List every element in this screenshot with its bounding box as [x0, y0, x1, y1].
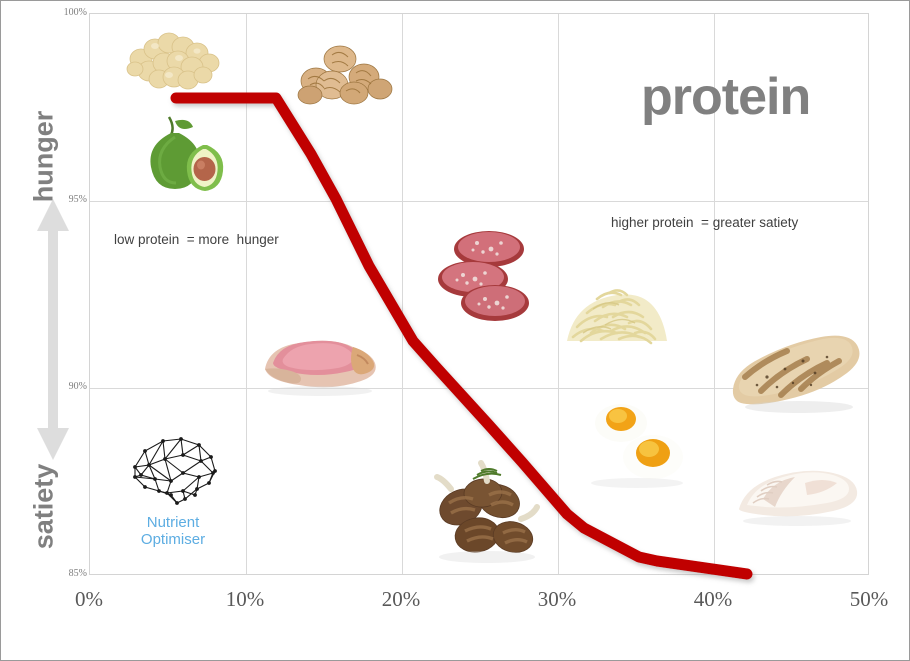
- chart-canvas: 100% 95% 90% 85% 0% 10% 20% 30% 40% 50% …: [0, 0, 910, 661]
- grilled-chicken-image: [723, 327, 867, 417]
- ham-steak-image: [257, 321, 383, 397]
- x-tick-label: 40%: [694, 587, 733, 612]
- boiled-eggs-image: [581, 397, 695, 489]
- low-protein-annotation: low protein = more hunger: [114, 232, 279, 247]
- gridline-vertical: [402, 14, 403, 574]
- walnuts-image: [288, 37, 396, 107]
- nutrient-optimiser-logo: Nutrient Optimiser: [119, 429, 227, 549]
- macadamia-nuts-image: [119, 25, 229, 95]
- chart-title: protein: [641, 67, 810, 127]
- high-protein-annotation: higher protein = greater satiety: [611, 215, 798, 230]
- x-tick-label: 20%: [382, 587, 421, 612]
- salami-image: [433, 223, 537, 329]
- y-tick-label: 100%: [47, 7, 87, 18]
- x-axis-labels: 0% 10% 20% 30% 40% 50%: [1, 587, 910, 621]
- x-tick-label: 10%: [226, 587, 265, 612]
- x-tick-label: 30%: [538, 587, 577, 612]
- up-down-arrow-icon: [31, 197, 75, 462]
- logo-line-2: Optimiser: [119, 531, 227, 548]
- gridline-horizontal: [90, 201, 868, 202]
- logo-line-1: Nutrient: [119, 514, 227, 531]
- lamb-chops-image: [425, 453, 549, 565]
- white-fish-image: [727, 453, 865, 529]
- logo-text: Nutrient Optimiser: [119, 514, 227, 549]
- shredded-cheese-image: [557, 263, 675, 355]
- brain-wireframe-icon: [119, 429, 227, 507]
- x-tick-label: 0%: [75, 587, 103, 612]
- avocado-image: [141, 111, 233, 193]
- x-tick-label: 50%: [850, 587, 889, 612]
- gridline-vertical: [246, 14, 247, 574]
